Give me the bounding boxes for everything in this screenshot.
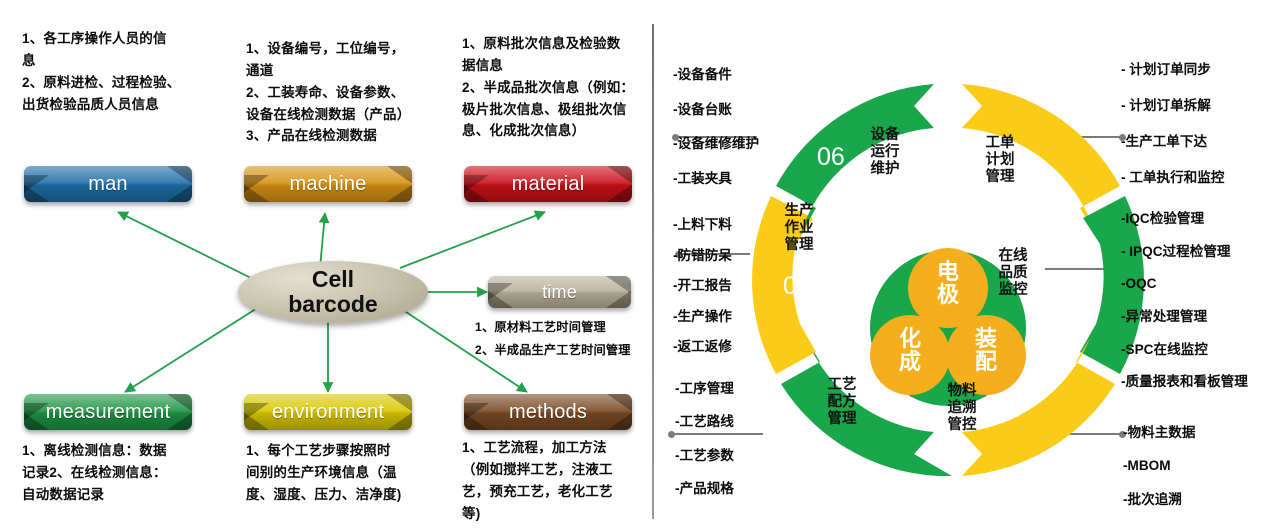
list-item[interactable]: -工艺参数	[675, 439, 734, 472]
list-item[interactable]: -批次追溯	[1123, 483, 1196, 516]
list-item[interactable]: -MBOM	[1123, 449, 1196, 482]
list-item[interactable]: -开工报告	[673, 271, 732, 302]
wheel-panel: 工单 计划 管理 01 在线 品质 监控 02 物料 追溯 管控 03 工艺 配…	[653, 0, 1287, 532]
wheel-number-01: 01	[1029, 175, 1057, 204]
category-notes-man: 1、各工序操作人员的信 息 2、原料进检、过程检验、 出货检验品质人员信息	[22, 28, 228, 115]
wheel-number-02: 02	[1041, 268, 1069, 297]
list-item[interactable]: - 计划订单拆解	[1121, 88, 1224, 124]
category-label-machine: machine	[290, 173, 367, 196]
ishikawa-panel: Cell barcode man 1、各工序操作人员的信 息 2、原料进检、过程…	[0, 0, 653, 532]
core-label-electrode: 电 极	[924, 260, 972, 306]
list-material: -物料主数据 -MBOM -批次追溯	[1123, 416, 1196, 516]
list-item[interactable]: -SPC在线监控	[1121, 334, 1248, 367]
wheel-label-01: 工单 计划 管理	[973, 135, 1027, 185]
category-notes-time: 1、原材料工艺时间管理 2、半成品生产工艺时间管理	[475, 316, 650, 362]
category-box-material[interactable]: material	[464, 166, 632, 202]
list-item[interactable]: - 工单执行和监控	[1121, 160, 1224, 196]
wheel-number-05: 05	[783, 272, 811, 301]
category-label-measurement: measurement	[46, 401, 170, 424]
category-box-environment[interactable]: environment	[244, 394, 412, 430]
list-item[interactable]: -设备台账	[673, 93, 759, 128]
center-node-cell-barcode[interactable]: Cell barcode	[238, 261, 428, 323]
list-item[interactable]: -OQC	[1121, 268, 1248, 301]
wheel-number-03: 03	[994, 395, 1022, 424]
wheel-label-06: 设备 运行 维护	[858, 127, 912, 177]
list-item[interactable]: -设备维修维护	[673, 127, 759, 162]
list-plan: - 计划订单同步 - 计划订单拆解 -生产工单下达 - 工单执行和监控	[1121, 52, 1224, 196]
list-item[interactable]: - IPQC过程检管理	[1121, 236, 1248, 269]
list-item[interactable]: - 计划订单同步	[1121, 52, 1224, 88]
category-label-methods: methods	[509, 401, 587, 424]
connector-dot	[668, 431, 675, 438]
list-item[interactable]: -返工返修	[673, 332, 732, 363]
wheel-label-02: 在线 品质 监控	[986, 248, 1040, 298]
list-quality: -IQC检验管理 - IPQC过程检管理 -OQC -异常处理管理 -SPC在线…	[1121, 203, 1248, 399]
core-label-formation: 化 成	[886, 327, 934, 373]
list-process: -工序管理 -工艺路线 -工艺参数 -产品规格	[675, 372, 734, 505]
list-item[interactable]: -工艺路线	[675, 405, 734, 438]
wheel-label-04: 工艺 配方 管理	[815, 377, 869, 427]
category-box-machine[interactable]: machine	[244, 166, 412, 202]
category-box-time[interactable]: time	[488, 276, 631, 308]
list-item[interactable]: -防错防呆	[673, 241, 732, 272]
category-notes-methods: 1、工艺流程，加工方法 （例如搅拌工艺，注液工 艺，预充工艺，老化工艺 等)	[462, 437, 658, 524]
core-label-assembly: 装 配	[962, 327, 1010, 373]
category-notes-material: 1、原料批次信息及检验数 据信息 2、半成品批次信息（例如： 极片批次信息、极组…	[462, 33, 662, 142]
list-item[interactable]: -IQC检验管理	[1121, 203, 1248, 236]
category-box-measurement[interactable]: measurement	[24, 394, 192, 430]
category-box-methods[interactable]: methods	[464, 394, 632, 430]
category-box-man[interactable]: man	[24, 166, 192, 202]
wheel-label-05: 生产 作业 管理	[772, 203, 826, 253]
list-item[interactable]: -生产操作	[673, 302, 732, 333]
list-item[interactable]: -产品规格	[675, 472, 734, 505]
list-operation: -上料下料 -防错防呆 -开工报告 -生产操作 -返工返修	[673, 210, 732, 363]
category-label-time: time	[542, 282, 577, 303]
category-notes-environment: 1、每个工艺步骤按照时 间别的生产环境信息（温 度、湿度、压力、洁净度)	[246, 440, 458, 506]
list-item[interactable]: -工序管理	[675, 372, 734, 405]
list-maintenance: -设备备件 -设备台账 -设备维修维护 -工装夹具	[673, 58, 759, 197]
wheel-label-03: 物料 追溯 管控	[935, 383, 989, 433]
wheel-number-04: 04	[872, 390, 900, 419]
list-item[interactable]: -设备备件	[673, 58, 759, 93]
list-item[interactable]: -工装夹具	[673, 162, 759, 197]
category-label-man: man	[88, 173, 128, 196]
list-item[interactable]: -上料下料	[673, 210, 732, 241]
list-item[interactable]: -异常处理管理	[1121, 301, 1248, 334]
category-label-material: material	[512, 173, 585, 196]
center-node-label: Cell barcode	[288, 267, 377, 317]
category-label-environment: environment	[272, 401, 384, 424]
list-item[interactable]: -物料主数据	[1123, 416, 1196, 449]
list-item[interactable]: -生产工单下达	[1121, 124, 1224, 160]
wheel-number-06: 06	[817, 143, 845, 172]
list-item[interactable]: -质量报表和看板管理	[1121, 366, 1248, 399]
category-notes-machine: 1、设备编号，工位编号， 通道 2、工装寿命、设备参数、 设备在线检测数据（产品…	[246, 38, 458, 147]
category-notes-measurement: 1、离线检测信息：数据 记录2、在线检测信息： 自动数据记录	[22, 440, 232, 506]
